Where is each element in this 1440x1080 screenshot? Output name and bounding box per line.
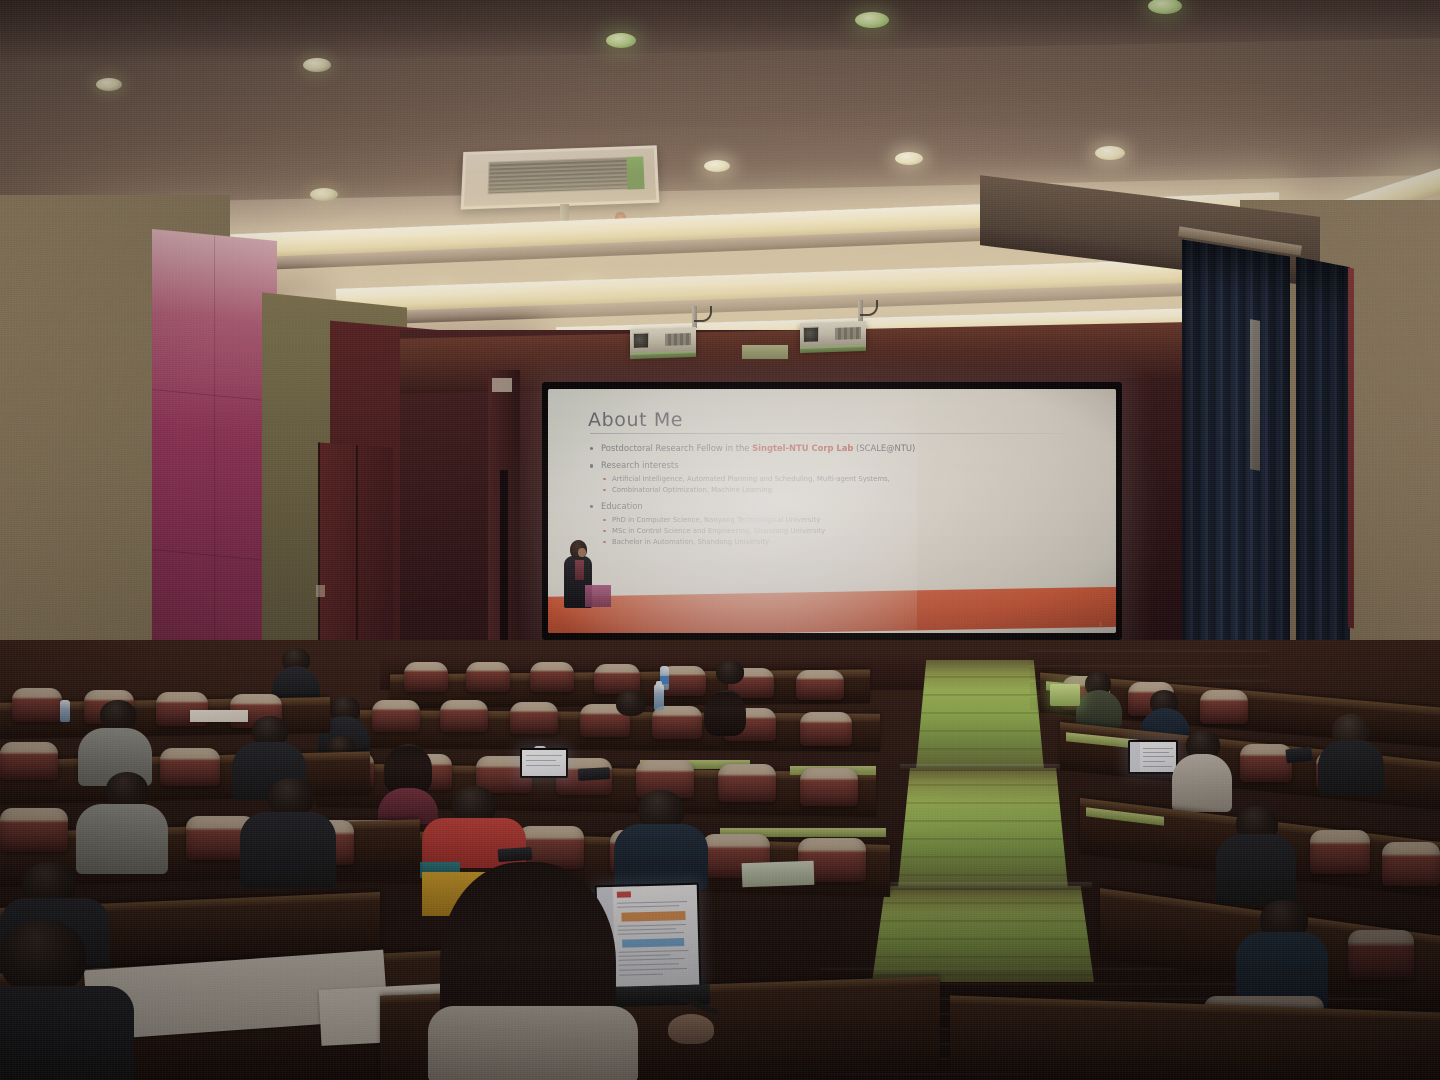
seat[interactable] — [12, 688, 62, 722]
laptop-open[interactable] — [1050, 684, 1080, 706]
laptop-text-line — [619, 968, 687, 971]
projection-screen: About Me Postdoctoral Research Fellow in… — [542, 382, 1122, 640]
laptop-text-line — [619, 974, 663, 976]
seat[interactable] — [1200, 690, 1248, 724]
ceiling-ac-vent — [461, 145, 660, 209]
wall-red-trim — [1348, 267, 1354, 628]
foreground-hand — [668, 1014, 714, 1044]
audience-head — [716, 660, 744, 684]
laptop-text-line — [618, 928, 676, 931]
laptop-text-line — [1143, 752, 1169, 753]
foreground-head-left — [0, 920, 86, 994]
laptop-text-line — [526, 755, 562, 756]
laptop-text-line — [619, 963, 679, 966]
seat[interactable] — [1348, 930, 1414, 980]
seat[interactable] — [404, 662, 448, 692]
laptop-open[interactable] — [520, 748, 568, 778]
slide-title: About Me — [588, 411, 1090, 430]
aisle-segment-mid — [898, 768, 1068, 888]
audience-head — [268, 778, 314, 816]
slide-bullet-2: Research interests Artificial Intelligen… — [588, 460, 1090, 495]
curtain-right-outer[interactable] — [1296, 257, 1350, 667]
sub-item-text: Combinatorial Optimization, Machine Lear… — [612, 486, 772, 494]
downlight-icon — [96, 78, 122, 91]
seat[interactable] — [796, 670, 844, 700]
laptop-text-line — [618, 950, 688, 953]
projector-right — [800, 321, 866, 349]
laptop-doc-logo — [617, 891, 631, 897]
audience-hair — [384, 746, 432, 794]
wall-mounted-speaker — [492, 378, 512, 392]
projector-lens-icon — [803, 326, 819, 343]
projector-controls — [665, 333, 691, 346]
slide-sublist-research: Artificial Intelligence, Automated Plann… — [601, 475, 1090, 496]
laptop-text-line — [617, 901, 687, 904]
seat[interactable] — [510, 702, 558, 734]
bullet-1-part-1: Postdoctoral Research Fellow in the — [601, 443, 752, 453]
projector-lens-icon — [633, 332, 649, 349]
sub-item: Bachelor in Automation, Shandong Univers… — [601, 538, 1090, 548]
seat[interactable] — [530, 662, 574, 692]
sub-item-continuation: Combinatorial Optimization, Machine Lear… — [601, 486, 1090, 496]
slide-sublist-education: PhD in Computer Science, Nanyang Technol… — [601, 516, 1090, 548]
ceiling-access-hatch — [742, 345, 788, 359]
presenter-face — [578, 548, 586, 557]
bottle-cap — [656, 681, 662, 685]
downlight-green-icon — [606, 33, 636, 48]
downlight-icon — [310, 188, 338, 201]
smartphone[interactable] — [498, 847, 533, 862]
bullet-2-label: Research interests — [601, 460, 679, 470]
foreground-body — [428, 1006, 638, 1080]
laptop-text-line — [618, 932, 684, 935]
laptop-display — [522, 750, 566, 776]
ac-indicator — [626, 157, 644, 189]
laptop-display — [1130, 742, 1176, 772]
audience-hair — [704, 692, 746, 736]
downlight-icon — [895, 152, 923, 165]
seat[interactable] — [160, 748, 220, 786]
audience-head — [616, 690, 646, 716]
presenter-lectern — [585, 585, 611, 607]
aisle-step — [900, 764, 1066, 771]
water-bottle[interactable] — [654, 684, 664, 710]
laptop-text-line — [619, 958, 685, 961]
downlight-icon — [303, 58, 331, 72]
laptop-text-line — [618, 924, 686, 927]
seat[interactable] — [800, 712, 852, 746]
laptop-text-line — [619, 954, 671, 956]
slide-bullet-3: Education PhD in Computer Science, Nanya… — [588, 501, 1090, 547]
laptop-text-line — [617, 905, 679, 908]
seat[interactable] — [466, 662, 510, 692]
aisle-step — [876, 882, 1092, 890]
water-bottle[interactable] — [60, 700, 70, 722]
screen-surface: About Me Postdoctoral Research Fellow in… — [548, 389, 1116, 633]
light-switch[interactable] — [316, 585, 325, 597]
laptop-text-line — [526, 765, 560, 766]
audience-body — [1318, 740, 1384, 796]
slide-bullet-list: Postdoctoral Research Fellow in the Sing… — [588, 443, 1090, 547]
laptop-text-line — [1143, 766, 1172, 767]
audience-body — [1172, 754, 1232, 812]
laptop-highlight-orange — [621, 911, 685, 922]
curtain-right-inner[interactable] — [1182, 239, 1290, 676]
presenter-scarf — [575, 560, 584, 580]
audience-body — [1076, 690, 1122, 728]
bullet-1-highlight: Singtel-NTU Corp Lab — [752, 443, 853, 453]
lecture-hall-photo: About Me Postdoctoral Research Fellow in… — [0, 0, 1440, 1080]
seat[interactable] — [1382, 842, 1440, 886]
seat[interactable] — [718, 764, 776, 802]
smartphone[interactable] — [578, 767, 611, 781]
seat[interactable] — [0, 742, 58, 780]
laptop-open[interactable] — [1128, 740, 1178, 774]
laptop-highlight-blue — [622, 938, 684, 948]
bullet-3-label: Education — [601, 501, 643, 511]
foreground-body-left — [0, 986, 134, 1080]
wall-slot-speaker — [500, 470, 508, 660]
audience-body — [1216, 834, 1296, 904]
audience-head — [100, 700, 136, 730]
aisle-planks — [898, 768, 1068, 888]
laptop-text-line — [526, 760, 556, 761]
sub-item: Artificial Intelligence, Automated Plann… — [601, 475, 1090, 485]
downlight-green-icon — [855, 12, 889, 28]
projector-controls — [835, 327, 861, 340]
notebook[interactable] — [742, 861, 815, 887]
slide-title-rule — [590, 433, 1090, 434]
window-light-gap — [1250, 319, 1260, 471]
audience-body — [614, 824, 708, 890]
ac-grille-icon — [487, 157, 632, 194]
seat[interactable] — [440, 700, 488, 732]
seat[interactable] — [1240, 744, 1292, 782]
audience-body — [240, 812, 336, 888]
laptop-text-line — [1143, 756, 1174, 757]
laptop-sidebar — [1130, 742, 1140, 772]
audience-head — [106, 772, 148, 808]
seat[interactable] — [1310, 830, 1370, 874]
tablet-device[interactable] — [1285, 747, 1312, 764]
seat[interactable] — [800, 768, 858, 806]
seat[interactable] — [372, 700, 420, 732]
downlight-icon — [1095, 146, 1125, 160]
bullet-1-part-3: (SCALE@NTU) — [853, 443, 915, 453]
projector-left — [630, 327, 696, 355]
slide-bullet-1: Postdoctoral Research Fellow in the Sing… — [588, 443, 1090, 454]
sub-item: MSc in Control Science and Engineering, … — [601, 527, 1090, 537]
audience-body — [76, 804, 168, 874]
downlight-icon — [704, 160, 730, 172]
aisle-segment-far — [916, 660, 1044, 770]
slide-page-number: 1 — [1099, 622, 1102, 628]
aisle-planks — [916, 660, 1044, 770]
seat[interactable] — [652, 706, 702, 739]
laptop-text-line — [1143, 761, 1165, 762]
paper-sheet[interactable] — [190, 710, 248, 722]
audience-body — [378, 788, 438, 824]
laptop-text-line — [1143, 748, 1173, 749]
sub-item: PhD in Computer Science, Nanyang Technol… — [601, 516, 1090, 526]
seat[interactable] — [0, 808, 68, 852]
